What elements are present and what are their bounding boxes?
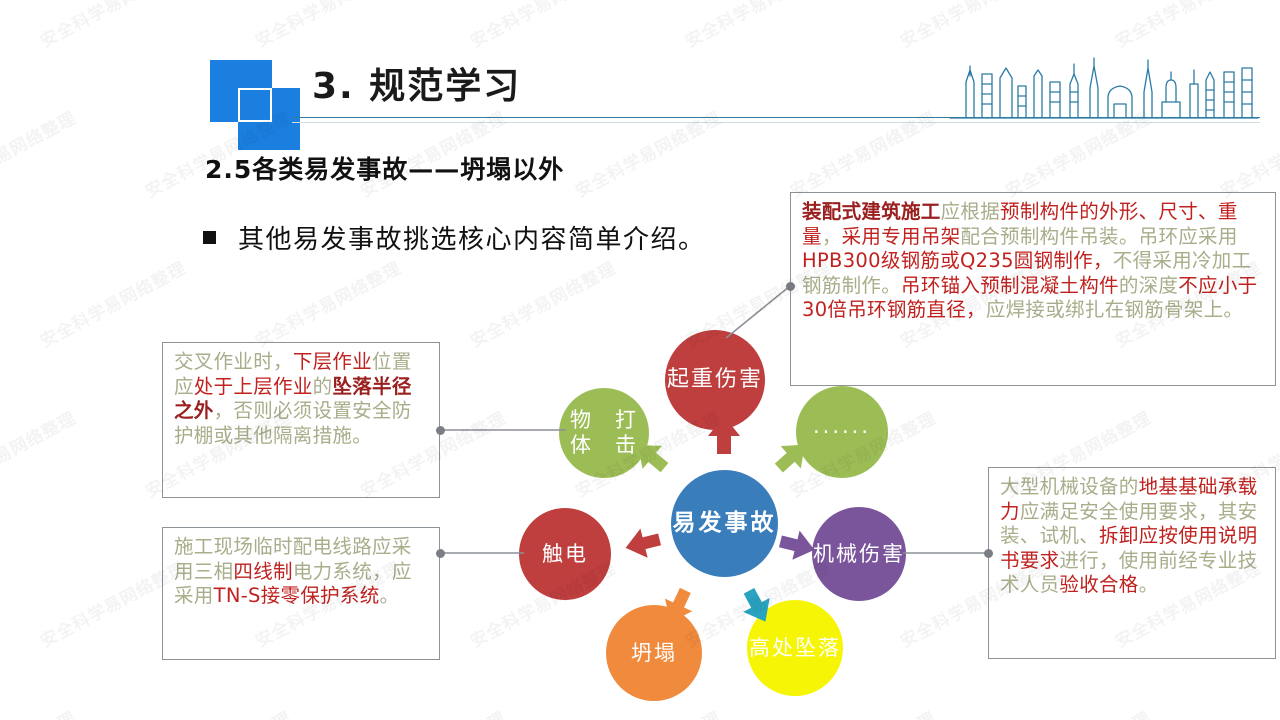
connector-dot-top-left	[436, 426, 445, 435]
callout-text-segment: 交叉作业时，	[174, 350, 293, 373]
callout-text-segment: 采用专用吊架	[842, 225, 961, 248]
callout-bottom-right[interactable]: 大型机械设备的地基基础承载力应满足安全使用要求，其安装、试机、拆卸应按使用说明书…	[988, 467, 1276, 659]
callout-text-segment: 的深度	[1119, 274, 1178, 297]
callout-text-segment: TN-S接零保护系统	[214, 584, 380, 607]
callout-top-left[interactable]: 交叉作业时，下层作业位置应处于上层作业的坠落半径之外，否则必须设置安全防护棚或其…	[162, 342, 440, 498]
callout-text-segment: 装配式建筑施工	[802, 200, 941, 223]
callout-text-segment: 应根据	[941, 200, 1000, 223]
connector-dot-top-right	[786, 282, 795, 291]
callout-text-segment: 处于上层作业	[194, 375, 313, 398]
callout-top-right[interactable]: 装配式建筑施工应根据预制构件的外形、尺寸、重量，采用专用吊架配合预制构件吊装。吊…	[790, 192, 1276, 386]
callout-bottom-left[interactable]: 施工现场临时配电线路应采用三相四线制电力系统，应采用TN-S接零保护系统。	[162, 527, 440, 660]
callout-text-segment: 下层作业	[293, 350, 372, 373]
callout-text-segment: 吊环锚入预制混凝土构件	[901, 274, 1119, 297]
callout-text-segment: 大型机械设备的	[1000, 475, 1139, 498]
callout-text-segment: 应焊接或绑扎在钢筋骨架上。	[986, 298, 1243, 321]
callout-text-segment: HPB300级钢筋或Q235圆钢制作，	[802, 249, 1113, 272]
callout-text-segment: 验收合格	[1059, 573, 1138, 596]
callout-text-segment: 。	[1139, 573, 1159, 596]
callout-text-segment: ，	[822, 225, 842, 248]
callout-text-segment: 的	[313, 375, 333, 398]
callout-text-segment: 四线制	[233, 560, 292, 583]
callout-text-segment: 吊环应采用	[1139, 225, 1238, 248]
callout-text-segment: 。	[380, 584, 400, 607]
connector-dot-bottom-left	[436, 549, 445, 558]
connector-dot-bottom-right	[984, 549, 993, 558]
slide-canvas: 3. 规范学习	[0, 0, 1280, 720]
callout-text-segment: 配合预制构件吊装。	[960, 225, 1138, 248]
